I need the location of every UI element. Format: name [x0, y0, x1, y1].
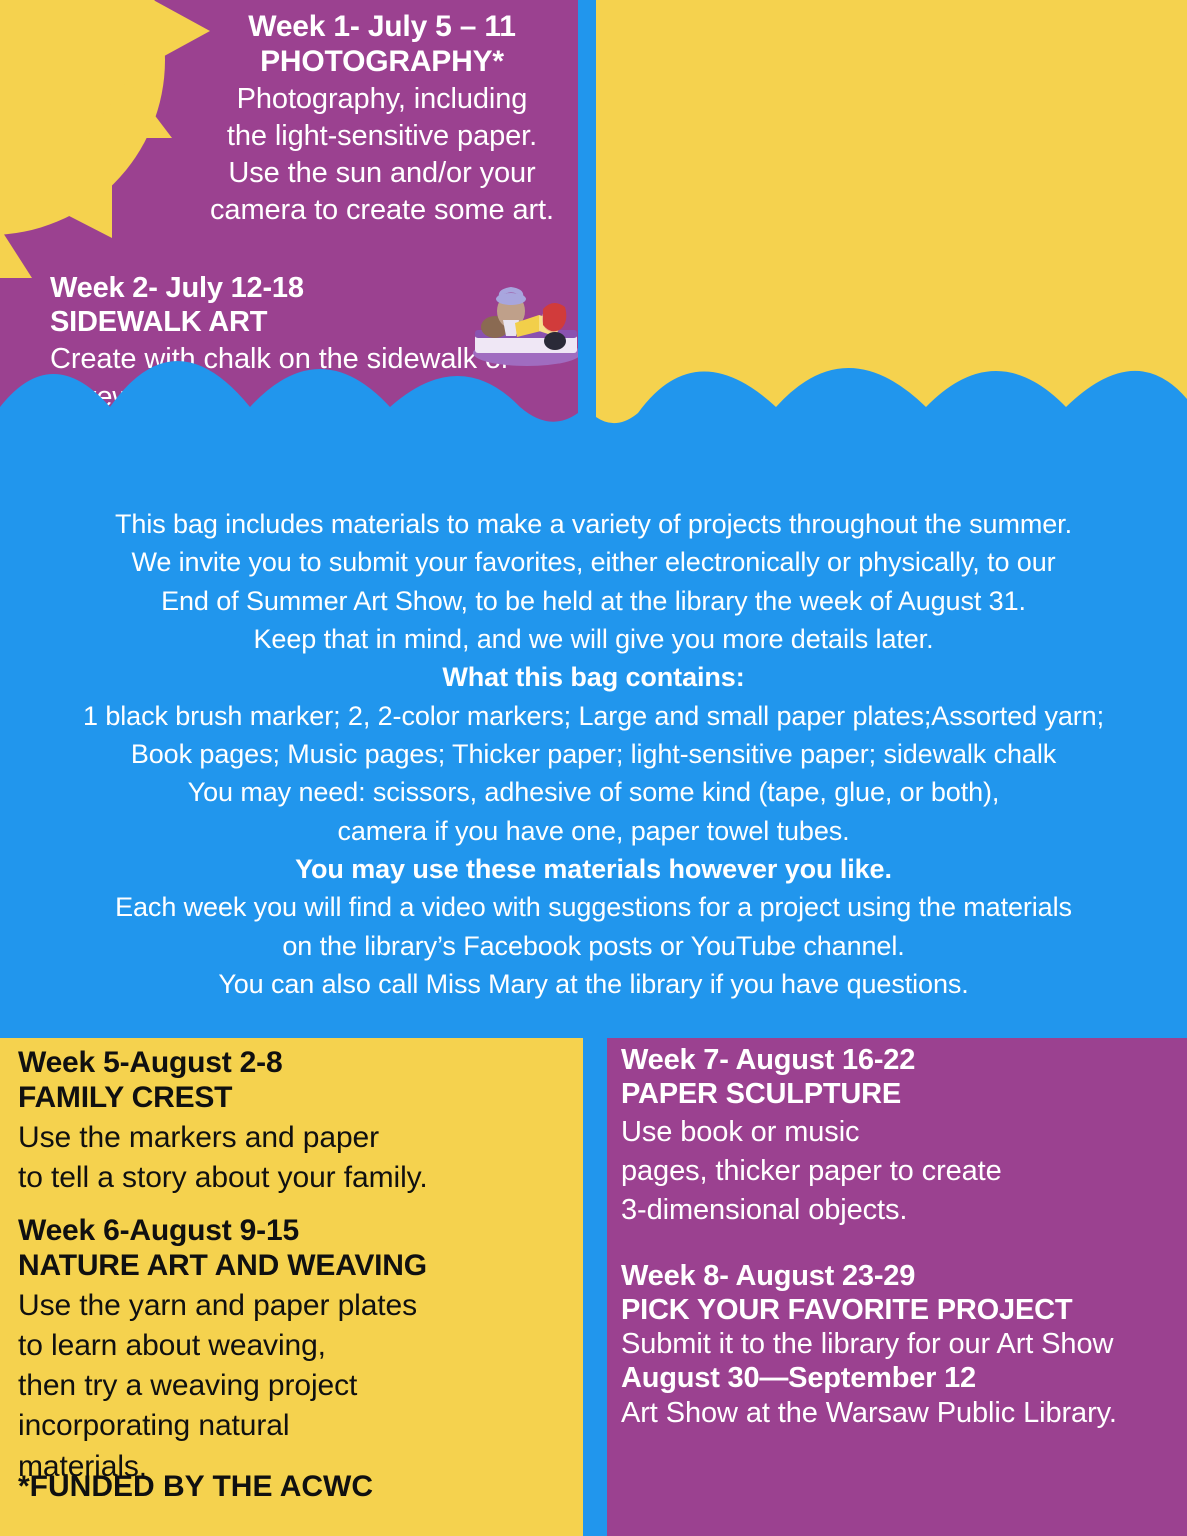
week7-block: Week 7- August 16-22 PAPER SCULPTURE Use…: [621, 1044, 1091, 1228]
week6-heading-line1: Week 6-August 9-15: [18, 1214, 578, 1249]
top-right-yellow-panel: Week 3- July 19-25 BOOK PAGE ART Use the…: [596, 0, 1187, 475]
week1-body-line-2: the light-sensitive paper.: [186, 119, 578, 154]
week8-body-line-2: Art Show at the Warsaw Public Library.: [621, 1396, 1181, 1431]
week1-heading-line1: Week 1- July 5 – 11: [186, 10, 578, 45]
poster-canvas: Week 1- July 5 – 11 PHOTOGRAPHY* Photogr…: [0, 0, 1187, 1536]
week6-body-line-4: incorporating natural: [18, 1408, 578, 1444]
week7-body-line-1: Use book or music: [621, 1115, 1091, 1150]
outro-line-2: on the library’s Facebook posts or YouTu…: [0, 927, 1187, 965]
week7-body-line-3: 3-dimensional objects.: [621, 1193, 1091, 1228]
week8-body-line-1: Submit it to the library for our Art Sho…: [621, 1327, 1181, 1362]
week8-heading-line3: August 30—September 12: [621, 1362, 1181, 1396]
outro-line-3: You can also call Miss Mary at the libra…: [0, 965, 1187, 1003]
week8-heading-line2: PICK YOUR FAVORITE PROJECT: [621, 1294, 1181, 1328]
week6-block: Week 6-August 9-15 NATURE ART AND WEAVIN…: [18, 1214, 578, 1485]
wave-divider-left: [0, 355, 578, 475]
week8-block: Week 8- August 23-29 PICK YOUR FAVORITE …: [621, 1260, 1181, 1431]
use-materials-heading: You may use these materials however you …: [0, 850, 1187, 888]
intro-line-1: This bag includes materials to make a va…: [0, 505, 1187, 543]
week6-heading-line2: NATURE ART AND WEAVING: [18, 1249, 578, 1284]
contains-heading: What this bag contains:: [0, 658, 1187, 696]
week2-heading-line1: Week 2- July 12-18: [50, 272, 578, 306]
wave-divider-right: [596, 355, 1187, 475]
intro-line-4: Keep that in mind, and we will give you …: [0, 620, 1187, 658]
contains-line-1: 1 black brush marker; 2, 2-color markers…: [0, 697, 1187, 735]
week7-heading-line2: PAPER SCULPTURE: [621, 1078, 1091, 1112]
sun-with-rays-icon: [0, 0, 210, 280]
week5-heading-line2: FAMILY CREST: [18, 1081, 578, 1116]
contains-line-4: camera if you have one, paper towel tube…: [0, 812, 1187, 850]
bottom-left-yellow-panel: Week 5-August 2-8 FAMILY CREST Use the m…: [0, 1038, 583, 1536]
top-left-purple-panel: Week 1- July 5 – 11 PHOTOGRAPHY* Photogr…: [0, 0, 578, 475]
week1-block: Week 1- July 5 – 11 PHOTOGRAPHY* Photogr…: [186, 10, 578, 228]
week5-body-line-1: Use the markers and paper: [18, 1120, 578, 1156]
funded-note: *FUNDED BY THE ACWC: [18, 1470, 373, 1504]
week6-body-line-1: Use the yarn and paper plates: [18, 1288, 578, 1324]
week1-body-line-3: Use the sun and/or your: [186, 156, 578, 191]
intro-line-3: End of Summer Art Show, to be held at th…: [0, 582, 1187, 620]
week1-body-line-1: Photography, including: [186, 82, 578, 117]
week5-heading-line1: Week 5-August 2-8: [18, 1046, 578, 1081]
bottom-right-purple-panel: Week 7- August 16-22 PAPER SCULPTURE Use…: [607, 1038, 1187, 1536]
week2-heading-line2: SIDEWALK ART: [50, 306, 578, 340]
week5-body-line-2: to tell a story about your family.: [18, 1160, 578, 1196]
week6-body-line-3: then try a weaving project: [18, 1368, 578, 1404]
week6-body-line-2: to learn about weaving,: [18, 1328, 578, 1364]
contains-line-2: Book pages; Music pages; Thicker paper; …: [0, 735, 1187, 773]
week1-body-line-4: camera to create some art.: [186, 193, 578, 228]
week1-heading-line2: PHOTOGRAPHY*: [186, 45, 578, 80]
intro-line-2: We invite you to submit your favorites, …: [0, 543, 1187, 581]
week7-body-line-2: pages, thicker paper to create: [621, 1154, 1091, 1189]
middle-info-block: This bag includes materials to make a va…: [0, 505, 1187, 1035]
week7-heading-line1: Week 7- August 16-22: [621, 1044, 1091, 1078]
week5-block: Week 5-August 2-8 FAMILY CREST Use the m…: [18, 1046, 578, 1196]
contains-line-3: You may need: scissors, adhesive of some…: [0, 773, 1187, 811]
week8-heading-line1: Week 8- August 23-29: [621, 1260, 1181, 1294]
outro-line-1: Each week you will find a video with sug…: [0, 888, 1187, 926]
